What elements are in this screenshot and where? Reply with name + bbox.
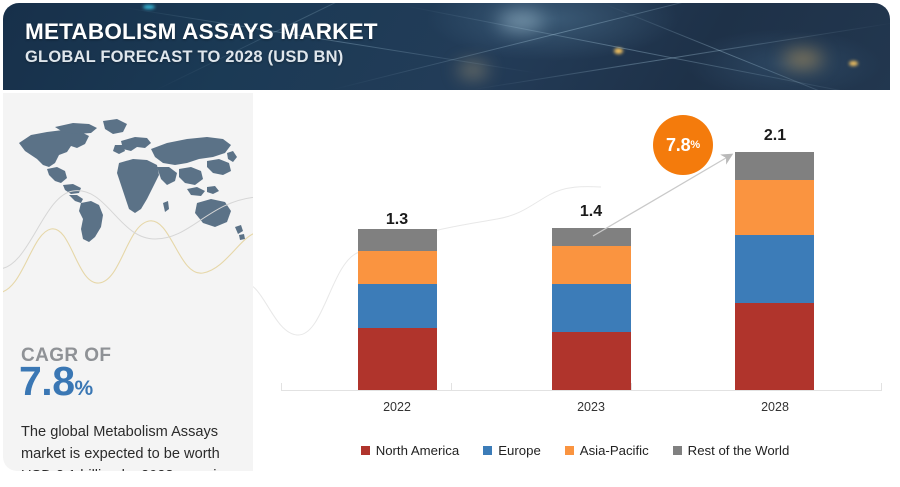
bar-segment-asia-pacific-2023[interactable] [552,246,631,284]
bar-segment-asia-pacific-2028[interactable] [735,180,814,235]
legend-label-europe: Europe [498,443,541,458]
x-axis-label-2023: 2023 [536,400,646,414]
x-axis-tick-1 [451,383,452,391]
bar-segment-europe-2023[interactable] [552,284,631,332]
legend-swatch-rest-of-the-world [673,446,682,455]
cagr-value: 7.8% [19,361,93,402]
legend-item-north-america[interactable]: North America [361,443,460,458]
bar-segment-asia-pacific-2022[interactable] [358,251,437,284]
chart-area: 1.3 2022 1.4 2023 2.1 2028 7.8% North Am… [253,93,897,487]
x-axis-line [281,390,881,391]
bar-2023[interactable] [552,228,631,390]
sidebar-description: The global Metabolism Assays market is e… [21,421,243,471]
bar-value-2028: 2.1 [730,127,820,145]
chart-legend: North America Europe Asia-Pacific Rest o… [253,443,897,458]
bar-value-2022: 1.3 [352,211,442,229]
header-text-block: METABOLISM ASSAYS MARKET GLOBAL FORECAST… [25,19,378,68]
cagr-callout-percent: % [690,139,700,151]
bar-segment-rest-of-world-2028[interactable] [735,152,814,180]
bar-segment-europe-2022[interactable] [358,284,437,328]
bar-segment-rest-of-world-2023[interactable] [552,228,631,246]
bar-value-2023: 1.4 [546,203,636,221]
cagr-percent-symbol: % [75,377,93,400]
legend-label-rest-of-the-world: Rest of the World [688,443,790,458]
page-header: METABOLISM ASSAYS MARKET GLOBAL FORECAST… [3,3,890,90]
bar-segment-north-america-2028[interactable] [735,303,814,390]
legend-label-asia-pacific: Asia-Pacific [580,443,649,458]
header-streak-3 [403,5,890,90]
header-streak-5 [603,3,882,90]
legend-label-north-america: North America [376,443,460,458]
header-streak-2 [333,3,838,90]
header-dot-3 [849,61,858,66]
x-axis-label-2028: 2028 [720,400,830,414]
header-streak-4 [473,22,890,90]
header-dot-1 [143,5,155,9]
page-subtitle: GLOBAL FORECAST TO 2028 (USD BN) [25,48,378,68]
legend-swatch-north-america [361,446,370,455]
decorative-wave-lines [3,173,253,313]
bar-segment-rest-of-world-2022[interactable] [358,229,437,251]
page-title: METABOLISM ASSAYS MARKET [25,19,378,45]
bar-segment-europe-2028[interactable] [735,235,814,303]
bar-2028[interactable] [735,152,814,390]
header-glow-3 [458,63,488,77]
legend-item-rest-of-the-world[interactable]: Rest of the World [673,443,790,458]
cagr-number: 7.8 [19,358,75,404]
cagr-callout-bubble[interactable]: 7.8% [653,115,713,175]
header-dot-2 [614,48,623,54]
bar-segment-north-america-2022[interactable] [358,328,437,390]
sidebar-panel: CAGR OF 7.8% The global Metabolism Assay… [3,93,253,471]
x-axis-tick-0 [281,383,282,391]
x-axis-tick-4 [881,383,882,391]
legend-item-europe[interactable]: Europe [483,443,541,458]
x-axis-label-2022: 2022 [342,400,452,414]
cagr-callout-value: 7.8 [666,135,690,156]
legend-swatch-europe [483,446,492,455]
bar-2022[interactable] [358,229,437,390]
header-glow-1 [498,11,544,31]
x-axis-tick-2 [631,383,632,391]
header-glow-2 [783,51,823,67]
legend-swatch-asia-pacific [565,446,574,455]
bar-segment-north-america-2023[interactable] [552,332,631,390]
legend-item-asia-pacific[interactable]: Asia-Pacific [565,443,649,458]
